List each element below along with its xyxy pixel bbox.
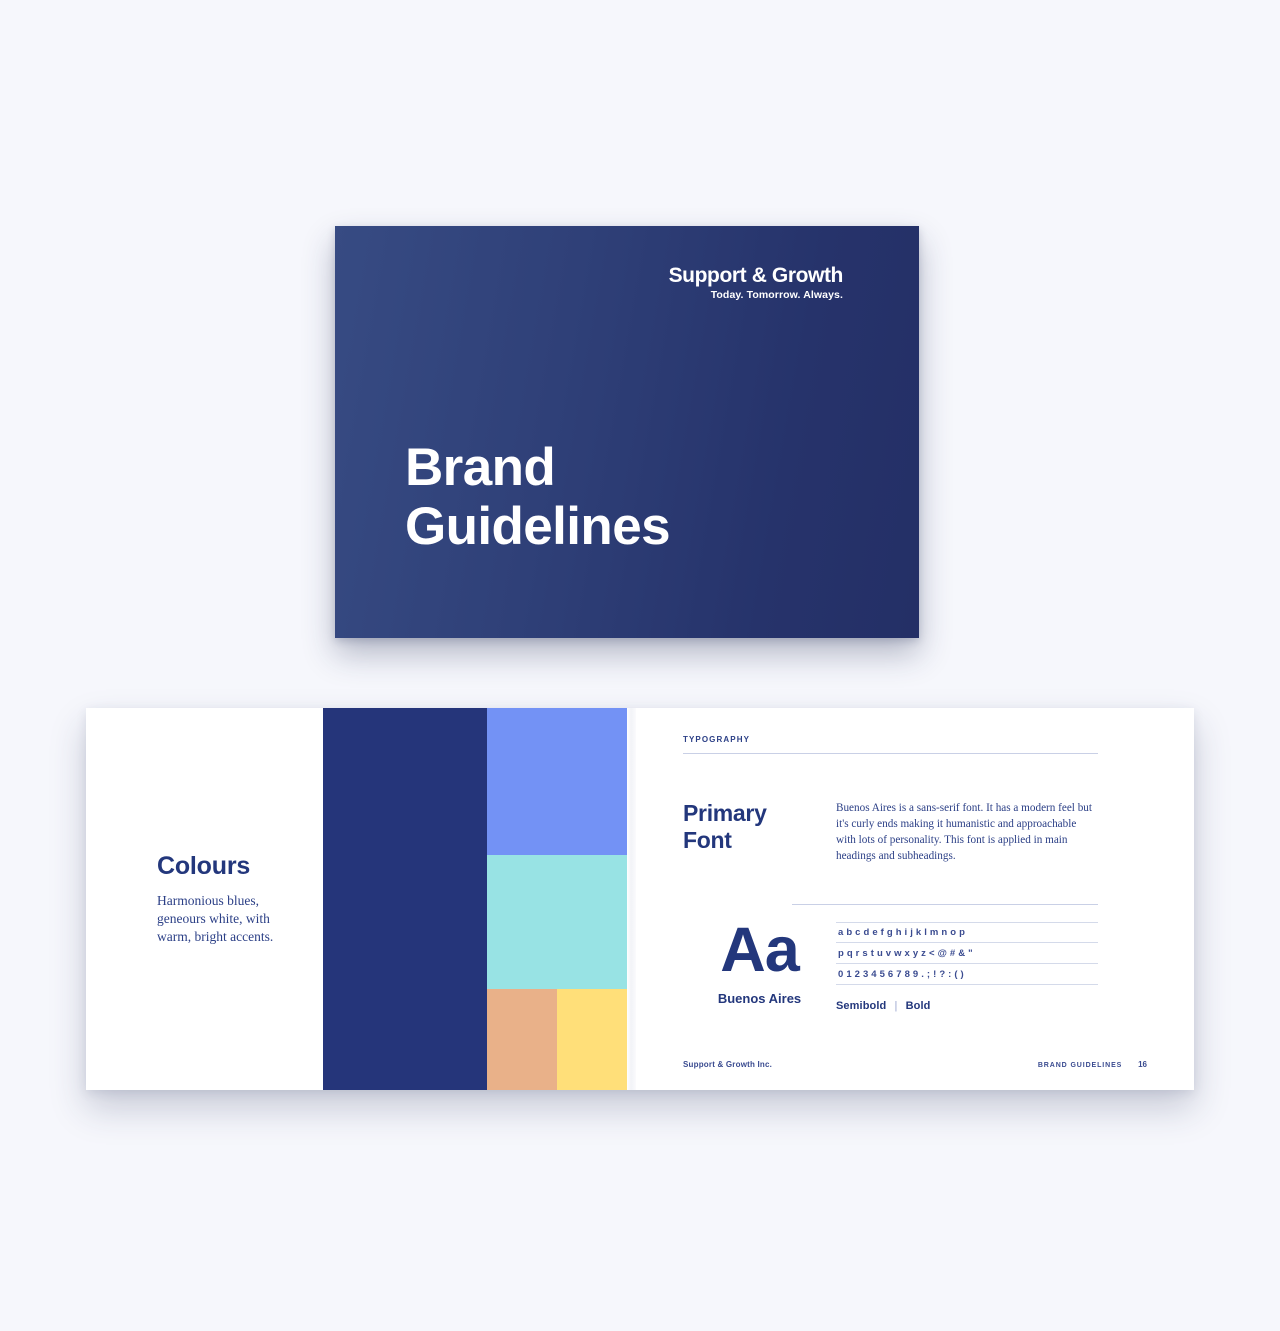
footer-document-name: BRAND GUIDELINES [1038,1062,1122,1069]
swatch-peach [487,989,557,1090]
charset-row: 0 1 2 3 4 5 6 7 8 9 . ; ! ? : ( ) [836,964,1098,985]
colours-description: Harmonious blues, geneours white, with w… [157,892,307,946]
page-footer: Support & Growth Inc. BRAND GUIDELINES 1… [683,1060,1147,1069]
weight-separator: | [889,1000,902,1012]
weight-bold: Bold [906,1000,931,1012]
swatch-yellow [557,989,627,1090]
logo: Support & Growth Today. Tomorrow. Always… [669,264,843,301]
swatch-aqua [487,855,627,989]
font-weights: Semibold | Bold [836,1000,1098,1012]
right-page-typography: TYPOGRAPHY Primary Font Buenos Aires is … [636,708,1194,1090]
specimen-block: Aa Buenos Aires [683,916,836,1012]
swatch-stack [487,708,627,1090]
colours-text-block: Colours Harmonious blues, geneours white… [86,708,323,1090]
charset-row-text: 0 1 2 3 4 5 6 7 8 9 . ; ! ? : ( ) [838,969,964,980]
primary-font-heading: Primary Font [683,800,836,864]
divider-top [683,753,1098,754]
charset-row: p q r s t u v w x y z < @ # & " [836,943,1098,964]
cover-title-line1: Brand [405,438,555,497]
primary-font-row: Primary Font Buenos Aires is a sans-seri… [683,800,1098,864]
footer-company: Support & Growth Inc. [683,1060,772,1069]
divider-middle [792,904,1098,905]
charset-block: a b c d e f g h i j k l m n o p p q r s … [836,916,1098,1012]
spread-gutter [627,708,636,1090]
brand-guidelines-mockup: Support & Growth Today. Tomorrow. Always… [0,0,1280,1331]
primary-heading-line1: Primary [683,800,767,826]
specimen-row: Aa Buenos Aires a b c d e f g h i j k l … [683,916,1098,1012]
swatch-periwinkle [487,708,627,855]
cover-title: Brand Guidelines [405,438,670,557]
footer-page-number: 16 [1138,1060,1147,1069]
section-label: TYPOGRAPHY [683,735,750,744]
charset-row-text: p q r s t u v w x y z < @ # & " [838,948,973,959]
specimen-font-name: Buenos Aires [683,991,836,1006]
swatch-accent-row [487,989,627,1090]
logo-name: Support & Growth [669,264,843,287]
colours-title: Colours [157,852,307,881]
specimen-glyphs: Aa [683,920,836,980]
charset-row-text: a b c d e f g h i j k l m n o p [838,927,965,938]
logo-tagline: Today. Tomorrow. Always. [669,289,843,301]
cover-card: Support & Growth Today. Tomorrow. Always… [335,226,919,638]
left-page-colours: Colours Harmonious blues, geneours white… [86,708,627,1090]
primary-font-description: Buenos Aires is a sans-serif font. It ha… [836,800,1098,864]
open-spread: Colours Harmonious blues, geneours white… [86,708,1194,1090]
charset-row: a b c d e f g h i j k l m n o p [836,922,1098,943]
weight-semibold: Semibold [836,1000,886,1012]
cover-title-line2: Guidelines [405,497,670,556]
swatch-navy [323,708,487,1090]
primary-heading-line2: Font [683,827,836,854]
footer-right-group: BRAND GUIDELINES 16 [1038,1060,1147,1069]
